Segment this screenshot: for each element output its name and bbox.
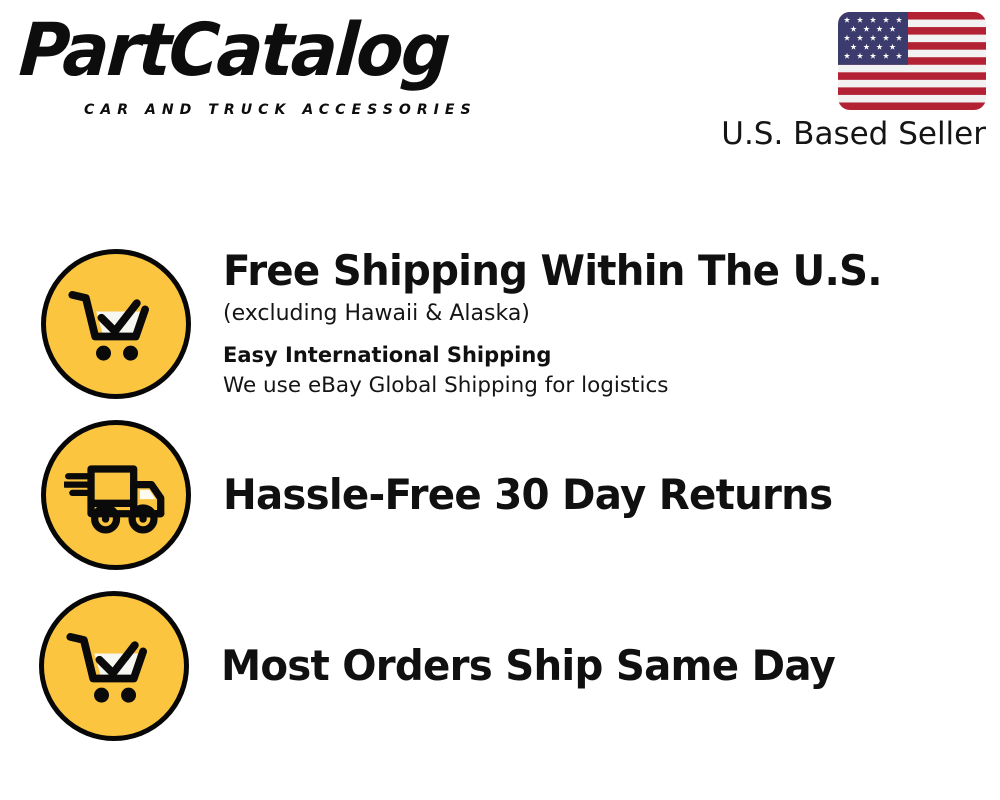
- delivery-truck-icon: [41, 420, 191, 570]
- feature-text: Hassle-Free 30 Day Returns: [223, 472, 1000, 517]
- feature-title: Free Shipping Within The U.S.: [223, 248, 950, 293]
- us-based-seller-label: U.S. Based Seller: [721, 117, 986, 151]
- feature-title: Hassle-Free 30 Day Returns: [223, 472, 950, 517]
- feature-subtitle-bold: Easy International Shipping: [223, 342, 980, 369]
- logo-tagline: CAR AND TRUCK ACCESSORIES: [84, 102, 477, 118]
- feature-row: Free Shipping Within The U.S. (excluding…: [0, 248, 1000, 400]
- logo-wordmark: PartCatalog: [17, 14, 450, 87]
- feature-row: Hassle-Free 30 Day Returns: [0, 419, 1000, 571]
- feature-text: Free Shipping Within The U.S. (excluding…: [223, 248, 1000, 399]
- shopping-cart-check-icon: [41, 249, 191, 399]
- feature-row: Most Orders Ship Same Day: [0, 590, 1000, 742]
- feature-text: Most Orders Ship Same Day: [221, 643, 1000, 688]
- us-flag-icon: [838, 12, 986, 110]
- feature-subtitle-detail: We use eBay Global Shipping for logistic…: [223, 372, 980, 400]
- feature-subtitle: (excluding Hawaii & Alaska): [223, 299, 980, 329]
- page-header: PartCatalog CAR AND TRUCK ACCESSORIES: [0, 0, 1000, 175]
- shopping-cart-check-icon: [39, 591, 189, 741]
- feature-title: Most Orders Ship Same Day: [221, 643, 950, 688]
- brand-logo[interactable]: PartCatalog CAR AND TRUCK ACCESSORIES: [22, 18, 492, 113]
